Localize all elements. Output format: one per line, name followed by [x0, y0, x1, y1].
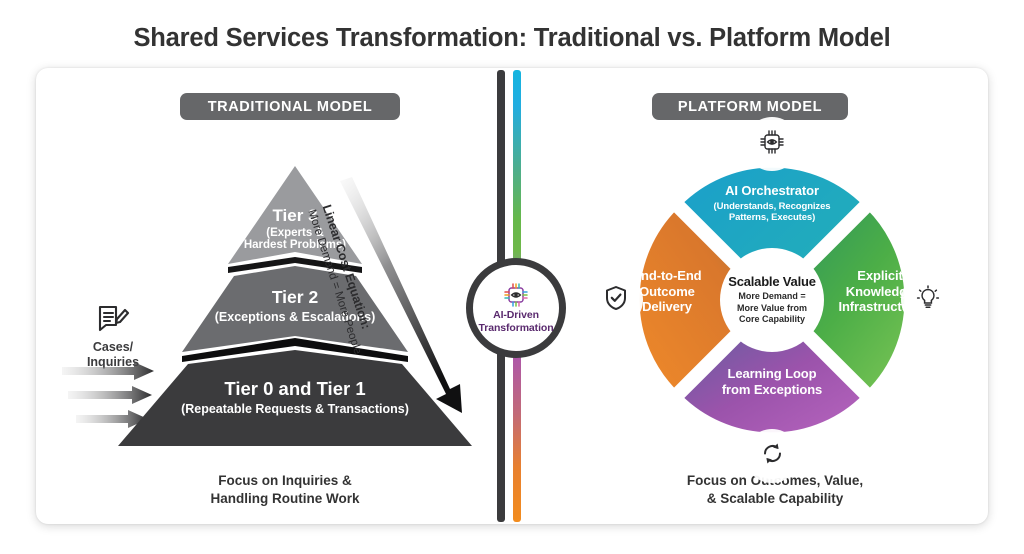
infographic-canvas: Shared Services Transformation: Traditio… — [0, 0, 1024, 554]
badge-left — [593, 277, 639, 323]
traditional-footer-line2: Handling Routine Work — [130, 490, 440, 508]
scalable-value-hub: Scalable Value More Demand = More Value … — [724, 252, 820, 348]
hub-subtitle: More Demand = More Value from Core Capab… — [737, 291, 807, 326]
lightbulb-icon — [916, 285, 940, 315]
ai-driven-transformation-node: AI-Driven Transformation — [466, 258, 566, 358]
ai-chip-eye-icon — [503, 282, 529, 308]
badge-top — [749, 121, 795, 167]
page-title: Shared Services Transformation: Traditio… — [0, 24, 1024, 53]
platform-model-pill: PLATFORM MODEL — [652, 93, 848, 120]
refresh-loop-icon — [760, 441, 785, 471]
traditional-model-pill-label: TRADITIONAL MODEL — [208, 99, 373, 115]
badge-right — [905, 277, 951, 323]
hub-sub-line1: More Demand = — [737, 291, 807, 303]
shield-check-icon — [604, 285, 628, 316]
hub-sub-line2: More Value from — [737, 303, 807, 315]
platform-footer-line2: & Scalable Capability — [620, 490, 930, 508]
ai-chip-eye-icon — [759, 129, 785, 160]
ai-node-label: AI-Driven Transformation — [478, 309, 553, 335]
traditional-footer-caption: Focus on Inquiries & Handling Routine Wo… — [130, 472, 440, 508]
platform-model-pill-label: PLATFORM MODEL — [678, 99, 822, 115]
badge-bottom — [749, 433, 795, 479]
traditional-model-pill: TRADITIONAL MODEL — [180, 93, 400, 120]
ai-node-label-line2: Transformation — [478, 322, 553, 335]
hub-sub-line3: Core Capability — [737, 314, 807, 326]
ai-node-label-line1: AI-Driven — [478, 309, 553, 322]
hub-title: Scalable Value — [728, 274, 816, 289]
traditional-footer-line1: Focus on Inquiries & — [130, 472, 440, 490]
platform-petal-wheel: Scalable Value More Demand = More Value … — [600, 128, 944, 472]
